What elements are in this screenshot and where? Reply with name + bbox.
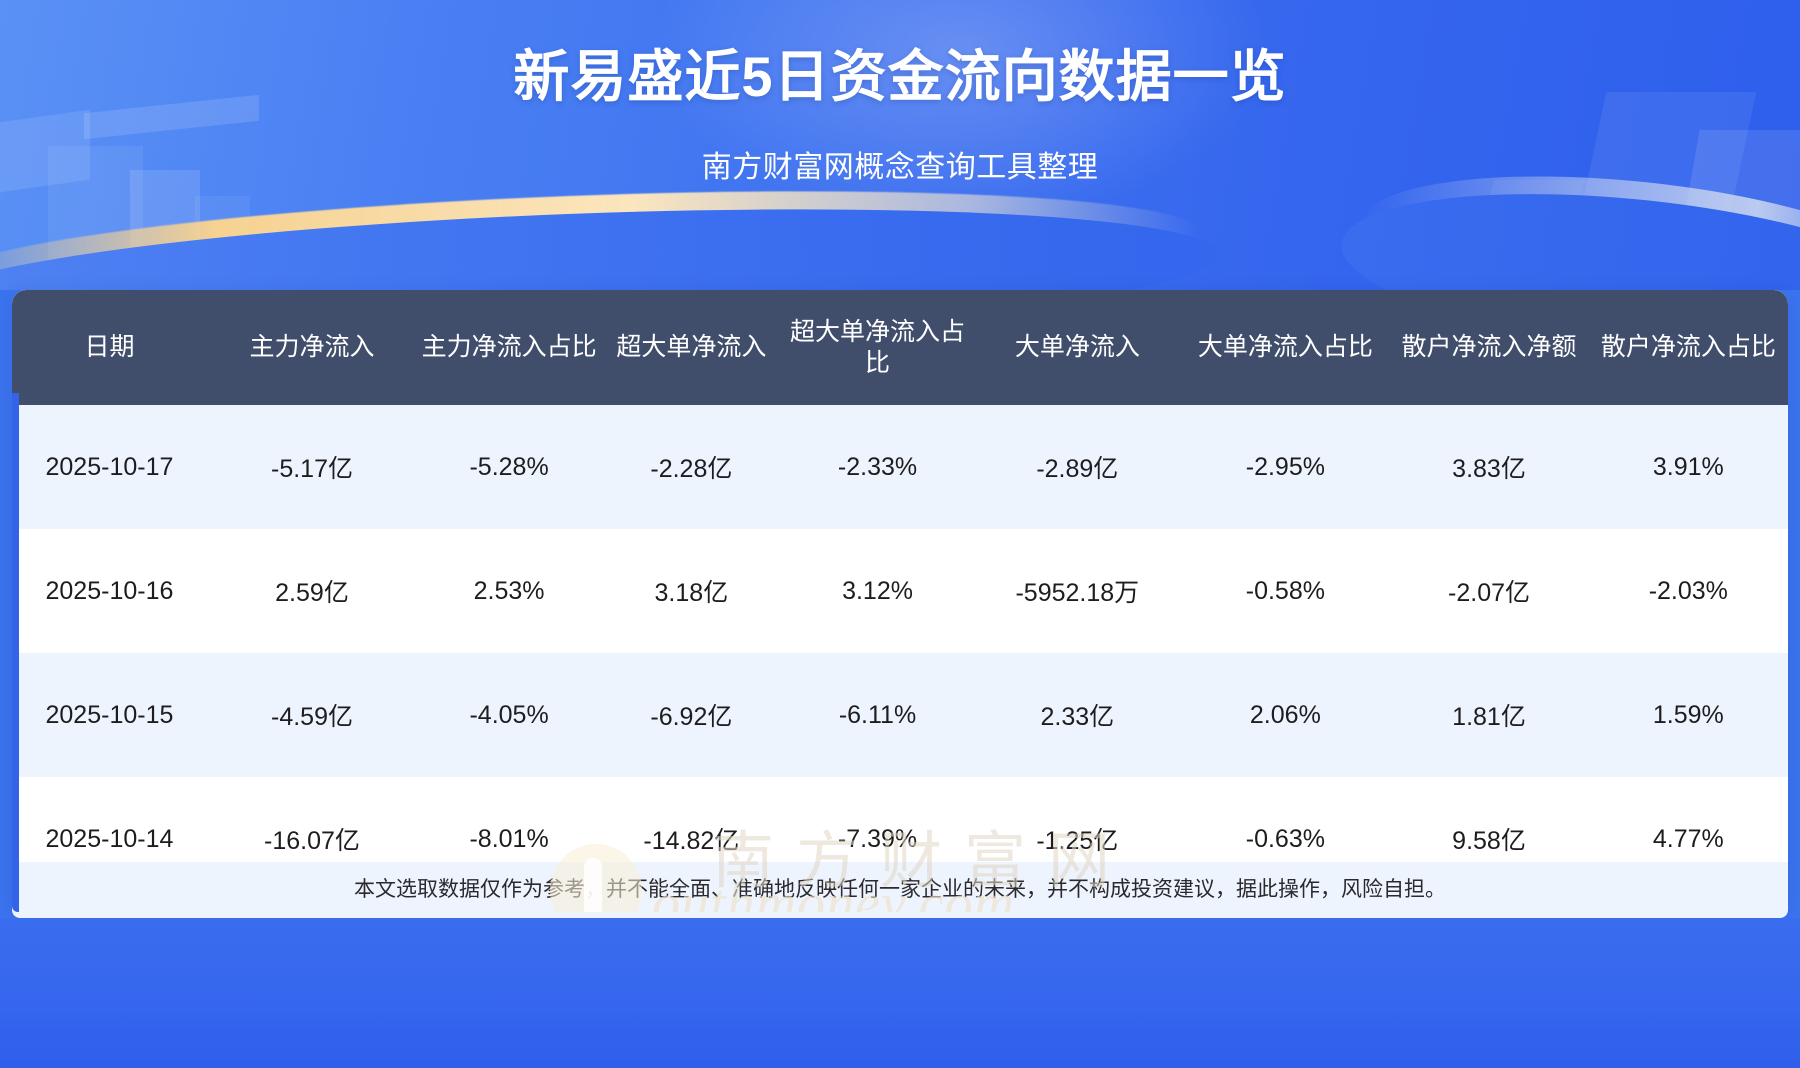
column-header-date: 日期	[12, 290, 207, 405]
cell-retail-pct: 3.91%	[1589, 405, 1788, 529]
disclaimer-text: 本文选取数据仅作为参考，并不能全面、准确地反映任何一家企业的未来，并不构成投资建…	[12, 862, 1788, 918]
cell-xlarge-net: -6.92亿	[601, 653, 782, 777]
column-header-large-pct: 大单净流入占比	[1181, 290, 1389, 405]
cell-retail-net: 3.83亿	[1389, 405, 1588, 529]
cell-large-pct: -2.95%	[1181, 405, 1389, 529]
bottom-blue-strip	[0, 918, 1800, 1068]
column-header-xlarge-pct: 超大单净流入占比	[782, 290, 974, 405]
cell-retail-pct: -2.03%	[1589, 529, 1788, 653]
cell-xlarge-net: 3.18亿	[601, 529, 782, 653]
cell-retail-pct: 1.59%	[1589, 653, 1788, 777]
row-accent-bar	[12, 393, 19, 912]
cell-xlarge-net: -2.28亿	[601, 405, 782, 529]
page-title: 新易盛近5日资金流向数据一览	[0, 32, 1800, 113]
page-subtitle: 南方财富网概念查询工具整理	[0, 142, 1800, 186]
cell-main-net: -4.59亿	[207, 653, 417, 777]
table-row: 2025-10-15 -4.59亿 -4.05% -6.92亿 -6.11% 2…	[12, 653, 1788, 777]
cell-xlarge-pct: 3.12%	[782, 529, 974, 653]
cell-date: 2025-10-16	[12, 529, 207, 653]
cell-date: 2025-10-15	[12, 653, 207, 777]
column-header-retail-pct: 散户净流入占比	[1589, 290, 1788, 405]
cell-main-pct: 2.53%	[417, 529, 601, 653]
footer-disclaimer-bar: 本文选取数据仅作为参考，并不能全面、准确地反映任何一家企业的未来，并不构成投资建…	[12, 862, 1788, 918]
table-row: 2025-10-17 -5.17亿 -5.28% -2.28亿 -2.33% -…	[12, 405, 1788, 529]
fund-flow-infographic: 新易盛近5日资金流向数据一览 南方财富网概念查询工具整理 南方财富网 outhm…	[0, 0, 1800, 1068]
fund-flow-table-card: 南方财富网 outhmoney.com 日期 主力净流入 主力净流入占比	[12, 290, 1788, 912]
cell-large-net: 2.33亿	[973, 653, 1181, 777]
cell-main-net: -5.17亿	[207, 405, 417, 529]
cell-large-pct: -0.58%	[1181, 529, 1389, 653]
cell-date: 2025-10-17	[12, 405, 207, 529]
table-header-row: 日期 主力净流入 主力净流入占比 超大单净流入 超大单净流入占比 大单净流入 大…	[12, 290, 1788, 405]
cell-large-net: -5952.18万	[973, 529, 1181, 653]
cell-retail-net: -2.07亿	[1389, 529, 1588, 653]
column-header-xlarge-net: 超大单净流入	[601, 290, 782, 405]
column-header-main-net: 主力净流入	[207, 290, 417, 405]
cell-main-pct: -4.05%	[417, 653, 601, 777]
cell-xlarge-pct: -6.11%	[782, 653, 974, 777]
cell-xlarge-pct: -2.33%	[782, 405, 974, 529]
fund-flow-table: 日期 主力净流入 主力净流入占比 超大单净流入 超大单净流入占比 大单净流入 大…	[12, 290, 1788, 912]
cell-main-net: 2.59亿	[207, 529, 417, 653]
table-head: 日期 主力净流入 主力净流入占比 超大单净流入 超大单净流入占比 大单净流入 大…	[12, 290, 1788, 405]
cell-large-net: -2.89亿	[973, 405, 1181, 529]
table-row: 2025-10-16 2.59亿 2.53% 3.18亿 3.12% -5952…	[12, 529, 1788, 653]
cell-retail-net: 1.81亿	[1389, 653, 1588, 777]
cell-large-pct: 2.06%	[1181, 653, 1389, 777]
column-header-retail-net: 散户净流入净额	[1389, 290, 1588, 405]
hero-banner: 新易盛近5日资金流向数据一览 南方财富网概念查询工具整理	[0, 0, 1800, 290]
cell-main-pct: -5.28%	[417, 405, 601, 529]
table-body: 2025-10-17 -5.17亿 -5.28% -2.28亿 -2.33% -…	[12, 405, 1788, 912]
column-header-main-pct: 主力净流入占比	[417, 290, 601, 405]
column-header-large-net: 大单净流入	[973, 290, 1181, 405]
